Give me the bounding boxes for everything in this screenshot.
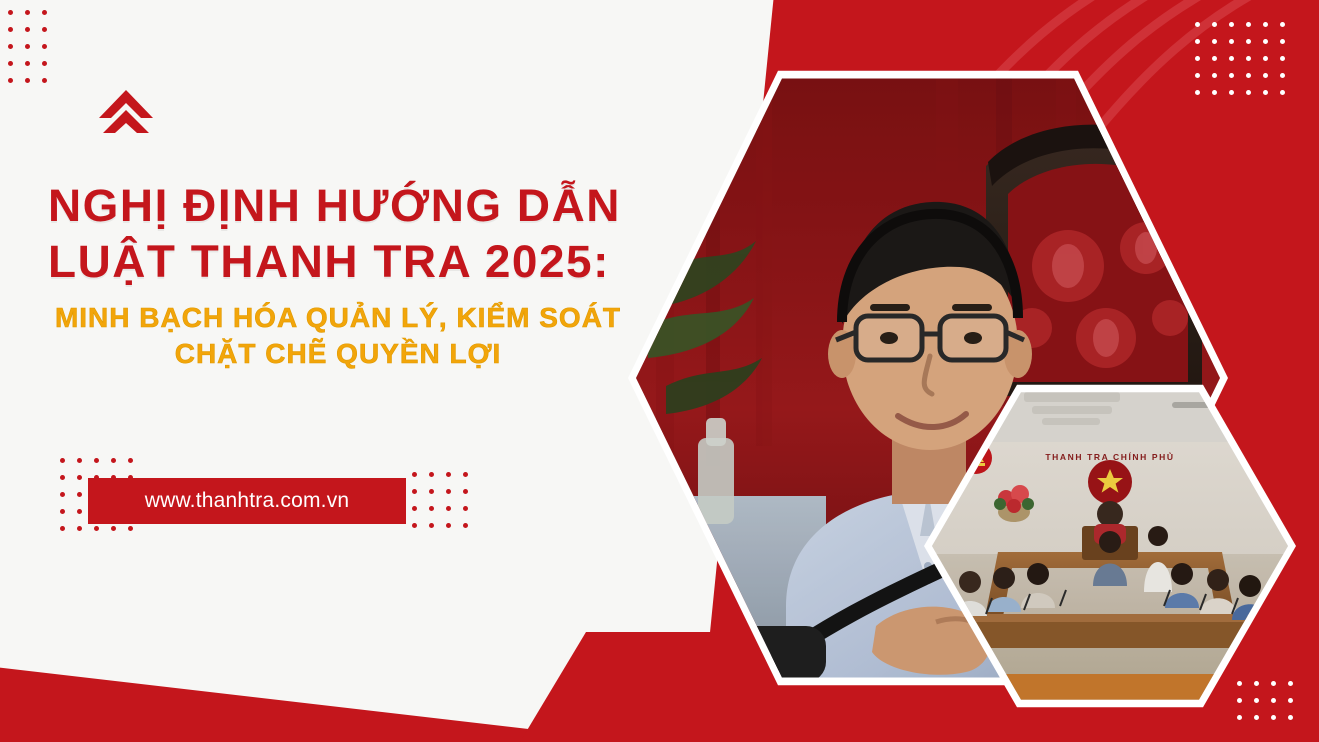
website-url-text: www.thanhtra.com.vn — [145, 489, 350, 513]
dots-bottom-right — [1237, 681, 1293, 720]
poster-canvas: NGHỊ ĐỊNH HƯỚNG DẪN LUẬT THANH TRA 2025:… — [0, 0, 1319, 742]
dots-mid-right — [412, 472, 468, 528]
dots-top-right — [1195, 22, 1285, 95]
subheadline-line-1: MINH BẠCH HÓA QUẢN LÝ, KIỂM SOÁT — [48, 300, 628, 336]
headline-line-2: LUẬT THANH TRA 2025: — [48, 234, 660, 290]
headline-line-1: NGHỊ ĐỊNH HƯỚNG DẪN — [48, 178, 660, 234]
dots-top-left — [8, 10, 47, 83]
bottom-center-red-wedge — [520, 632, 740, 742]
page-title: NGHỊ ĐỊNH HƯỚNG DẪN LUẬT THANH TRA 2025: — [48, 178, 648, 290]
website-url-bar[interactable]: www.thanhtra.com.vn — [88, 478, 406, 524]
page-subtitle: MINH BẠCH HÓA QUẢN LÝ, KIỂM SOÁT CHẶT CH… — [48, 300, 628, 372]
subheadline-line-2: CHẶT CHẼ QUYỀN LỢI — [48, 336, 628, 372]
mountain-chevron-logo-icon — [97, 88, 155, 144]
